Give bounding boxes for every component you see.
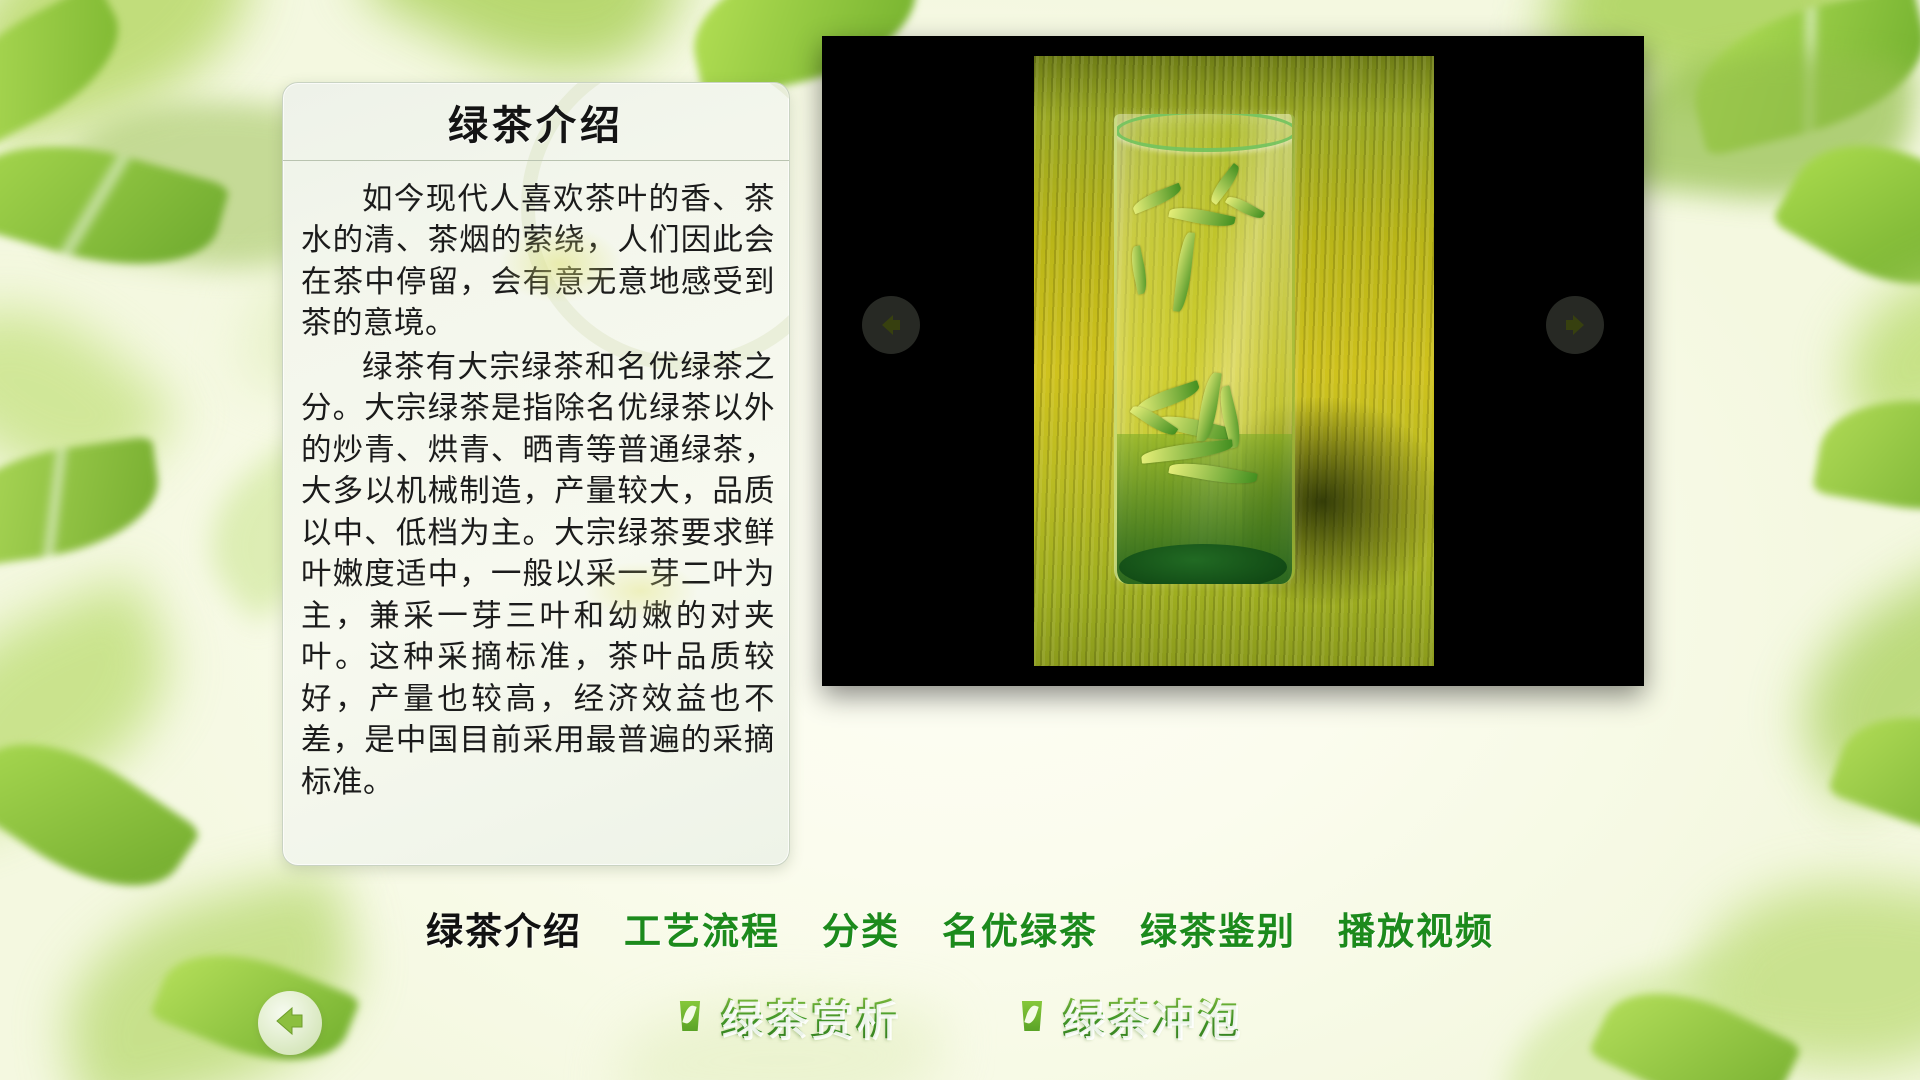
nav-item-play-video[interactable]: 播放视频 — [1338, 901, 1494, 955]
back-button[interactable] — [258, 991, 322, 1055]
article-paragraph: 绿茶有大宗绿茶和名优绿茶之分。大宗绿茶是指除名优绿茶以外的炒青、烘青、晒青等普通… — [301, 347, 775, 803]
article-panel: 绿茶介绍 如今现代人喜欢茶叶的香、茶水的清、茶烟的萦绕，人们因此会在茶中停留，会… — [282, 82, 790, 866]
carousel-next-button[interactable] — [1546, 296, 1604, 354]
primary-navigation: 绿茶介绍 工艺流程 分类 名优绿茶 绿茶鉴别 播放视频 — [0, 900, 1920, 956]
nav-item-green-tea-intro[interactable]: 绿茶介绍 — [426, 901, 582, 955]
nav-item-tea-brewing-label: 绿茶冲泡 — [1062, 986, 1242, 1047]
nav-item-famous-green-tea[interactable]: 名优绿茶 — [942, 901, 1098, 955]
nav-item-process-flow[interactable]: 工艺流程 — [624, 901, 780, 955]
nav-item-tea-appreciation-label: 绿茶赏析 — [720, 986, 900, 1047]
text-highlight — [583, 561, 698, 621]
tea-photo — [1034, 56, 1434, 666]
carousel-prev-button[interactable] — [862, 296, 920, 354]
arrow-left-icon — [874, 308, 908, 342]
tea-cup-icon — [1020, 1001, 1044, 1031]
tea-glass-illustration — [1114, 114, 1295, 584]
image-carousel — [822, 36, 1644, 686]
nav-item-classification[interactable]: 分类 — [822, 901, 900, 955]
page-title: 绿茶介绍 — [448, 93, 624, 151]
nav-item-tea-identification[interactable]: 绿茶鉴别 — [1140, 901, 1296, 955]
article-body[interactable]: 如今现代人喜欢茶叶的香、茶水的清、茶烟的萦绕，人们因此会在茶中停留，会有意无意地… — [283, 161, 789, 864]
nav-item-tea-appreciation[interactable]: 绿茶赏析 — [678, 986, 900, 1047]
nav-item-tea-brewing[interactable]: 绿茶冲泡 — [1020, 986, 1242, 1047]
article-header: 绿茶介绍 — [283, 83, 789, 161]
arrow-right-icon — [1558, 308, 1592, 342]
tea-cup-icon — [678, 1001, 702, 1031]
arrow-left-icon — [270, 1001, 310, 1045]
text-highlight — [498, 225, 623, 303]
